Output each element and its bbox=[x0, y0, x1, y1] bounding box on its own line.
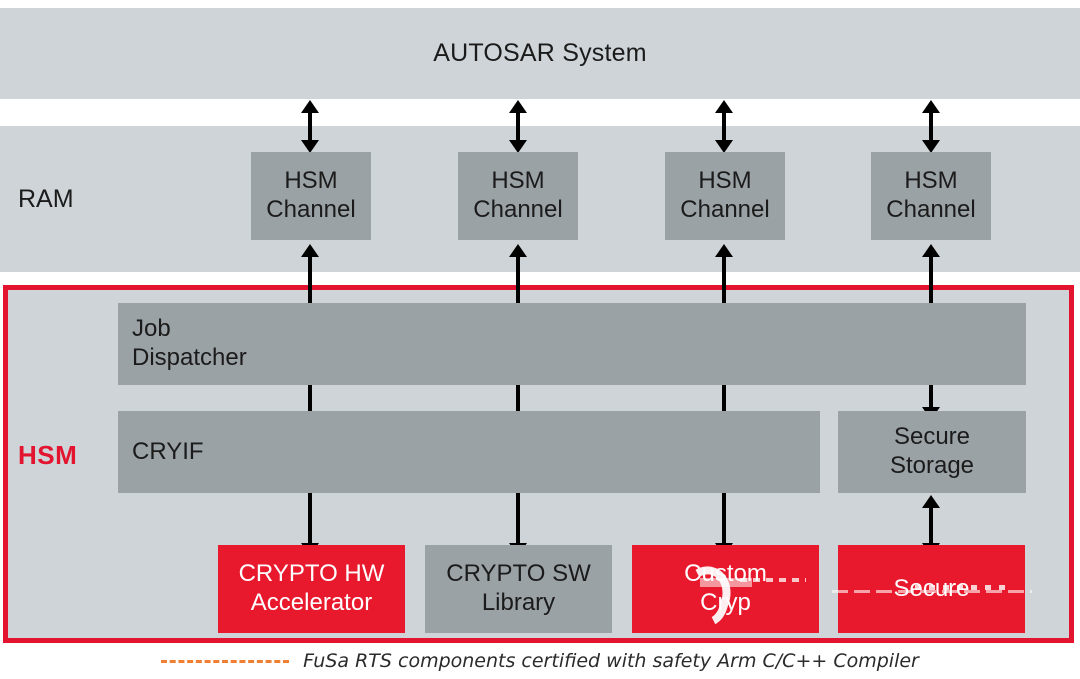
footer-note-text: FuSa RTS components certified with safet… bbox=[303, 650, 919, 672]
hsm-channel-box-1[interactable]: HSM Channel bbox=[251, 152, 371, 240]
crypto-hw-accelerator-box[interactable]: CRYPTO HW Accelerator bbox=[218, 545, 405, 633]
hsm-channel-box-2[interactable]: HSM Channel bbox=[458, 152, 578, 240]
crypto-sw-library-box[interactable]: CRYPTO SW Library bbox=[425, 545, 612, 633]
arrow-autosar-to-channel-2 bbox=[516, 112, 520, 141]
secure-box[interactable]: Secure bbox=[838, 545, 1025, 633]
footer-note: FuSa RTS components certified with safet… bbox=[0, 650, 1080, 672]
diagram-canvas: AUTOSAR System RAM HSM HSM Channel HSM C… bbox=[0, 0, 1080, 679]
arrow-autosar-to-channel-4 bbox=[929, 112, 933, 141]
hsm-label: HSM bbox=[18, 440, 77, 471]
arrow-channel-3-to-custom-crypto bbox=[722, 256, 726, 544]
orange-dashed-line-icon bbox=[161, 660, 289, 663]
cryif-box[interactable]: CRYIF bbox=[118, 411, 820, 493]
hsm-channel-box-4[interactable]: HSM Channel bbox=[871, 152, 991, 240]
ram-label: RAM bbox=[18, 126, 74, 272]
arrow-autosar-to-channel-1 bbox=[308, 112, 312, 141]
arrow-channel-1-to-crypto-hw bbox=[308, 256, 312, 544]
arrow-autosar-to-channel-3 bbox=[722, 112, 726, 141]
arrow-channel-2-to-crypto-sw bbox=[516, 256, 520, 544]
hsm-channel-box-3[interactable]: HSM Channel bbox=[665, 152, 785, 240]
job-dispatcher-box[interactable]: Job Dispatcher bbox=[118, 303, 1026, 385]
custom-crypto-driver-box[interactable]: Custom Cryp bbox=[632, 545, 819, 633]
autosar-system-label: AUTOSAR System bbox=[0, 8, 1080, 99]
secure-storage-box[interactable]: Secure Storage bbox=[838, 411, 1026, 493]
arrow-secure-storage-to-secure bbox=[929, 507, 933, 544]
